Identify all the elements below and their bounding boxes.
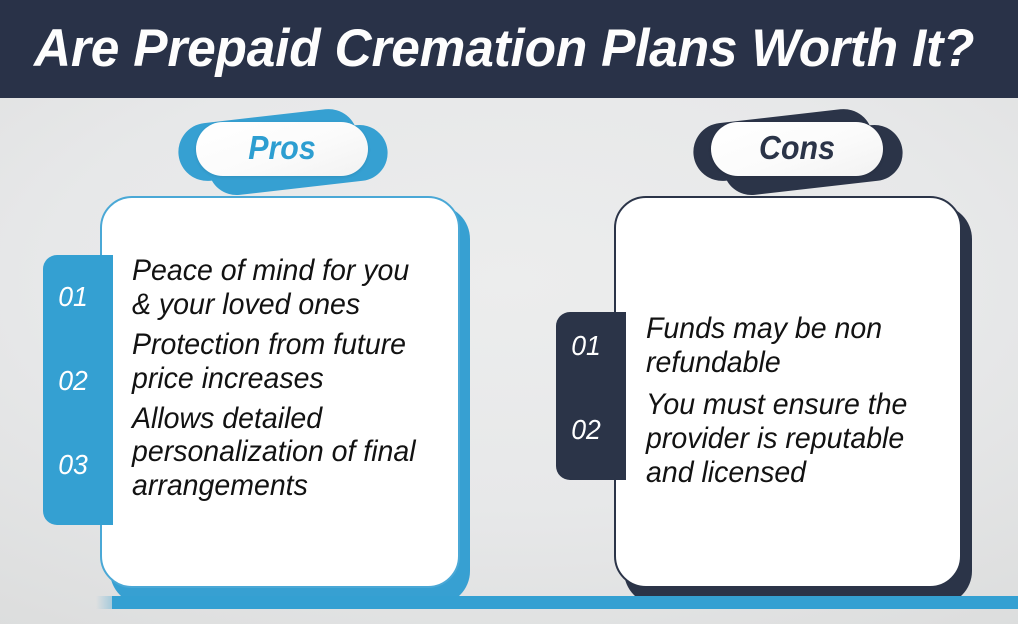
number-badge: 02 xyxy=(43,365,110,397)
number-badge: 03 xyxy=(43,449,110,481)
infographic-canvas: Are Prepaid Cremation Plans Worth It? Pr… xyxy=(0,0,1018,624)
list-item: You must ensure the provider is reputabl… xyxy=(646,388,931,490)
list-item: Allows detailed personalization of final… xyxy=(132,402,434,504)
number-badge: 01 xyxy=(43,281,110,313)
card-item-list-pros: Peace of mind for you & your loved ones … xyxy=(132,254,450,503)
number-badge: 02 xyxy=(556,414,623,446)
list-item: Funds may be non refundable xyxy=(646,312,931,380)
bottom-accent-bar xyxy=(112,596,1018,609)
number-badge: 01 xyxy=(556,330,623,362)
badge-pros: Pros xyxy=(196,122,368,176)
badge-label-pros: Pros xyxy=(203,122,361,176)
page-title: Are Prepaid Cremation Plans Worth It? xyxy=(34,12,965,86)
badge-cons: Cons xyxy=(711,122,883,176)
list-item: Peace of mind for you & your loved ones xyxy=(132,254,434,322)
list-item: Protection from future price increases xyxy=(132,328,434,396)
badge-label-cons: Cons xyxy=(718,122,876,176)
number-tab-cons: 01 02 xyxy=(556,312,626,480)
card-item-list-cons: Funds may be non refundable You must ens… xyxy=(646,312,946,489)
number-tab-pros: 01 02 03 xyxy=(43,255,113,525)
